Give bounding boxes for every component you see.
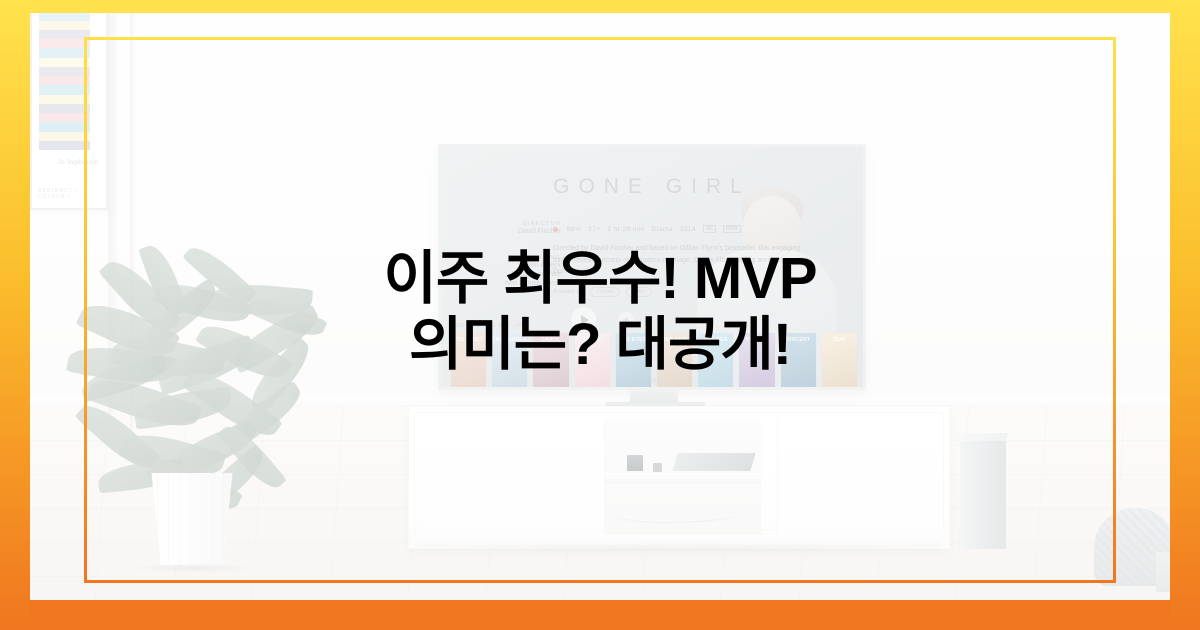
border-top [0, 0, 1200, 13]
artwork-stripe [39, 104, 90, 113]
artwork-stripe [39, 48, 90, 57]
media-device-small [653, 463, 662, 472]
floor-speaker [960, 441, 1006, 549]
artwork-stripe [39, 141, 90, 150]
media-device [627, 455, 643, 471]
artwork-stripe [39, 39, 90, 48]
tv-brand-label: SONY [441, 379, 863, 385]
artwork-stripe [39, 13, 90, 21]
movie-meta-row: 88% 17+ 2 hr 29 min Drama 2014 4K HDR [553, 225, 741, 233]
meta-badge-4k: 4K [703, 225, 716, 233]
console-cabinet-right [777, 419, 937, 535]
meta-rating: 17+ [588, 226, 600, 233]
artwork-stripe [39, 95, 90, 104]
meta-genre: Drama [651, 226, 673, 233]
artwork-caption: ABSTRACT ( COLOUR ) [38, 188, 106, 200]
headline-line-2: 의미는? 대공개! [0, 312, 1200, 378]
artwork-stripe [39, 132, 90, 141]
console-shelf [605, 473, 761, 481]
framed-artwork: Jo Stephenson ABSTRACT ( COLOUR ) [30, 13, 108, 210]
artwork-stripe [39, 21, 90, 30]
cable [615, 503, 745, 523]
artwork-signature: Jo Stephenson [58, 158, 98, 166]
meta-score: 88% [567, 226, 581, 233]
director-name: David Fincher [469, 227, 561, 236]
plant-shadow [128, 563, 258, 573]
artwork-stripe [39, 30, 90, 39]
headline-text: 이주 최우수! MVP 의미는? 대공개! [0, 246, 1200, 378]
movie-title: GONE GIRL [441, 175, 863, 199]
artwork-stripe [39, 67, 90, 76]
meta-badge-hdr: HDR [723, 225, 741, 233]
artwork-stripe [39, 76, 90, 85]
border-bottom [0, 600, 1200, 630]
console-inner-frame [414, 412, 944, 530]
artwork-stripe [39, 113, 90, 122]
thumbnail-canvas: Jo Stephenson ABSTRACT ( COLOUR ) GONE G… [0, 0, 1200, 630]
artwork-stripe [39, 58, 90, 67]
meta-duration: 2 hr 29 min [607, 226, 644, 233]
chair-leg [1156, 552, 1170, 592]
meta-year: 2014 [680, 226, 696, 233]
console-open-bay [605, 419, 761, 535]
console-shadow [416, 543, 944, 553]
artwork-stripe [39, 85, 90, 94]
artwork-stripe [39, 122, 90, 131]
media-console [408, 406, 950, 549]
console-cabinet-left [421, 419, 605, 535]
artwork-stripes [39, 13, 90, 150]
headline-line-1: 이주 최우수! MVP [0, 246, 1200, 312]
plant-pot [146, 473, 238, 565]
director-credit: DIRECTOR David Fincher [469, 221, 561, 236]
laptop-on-shelf [672, 453, 755, 471]
